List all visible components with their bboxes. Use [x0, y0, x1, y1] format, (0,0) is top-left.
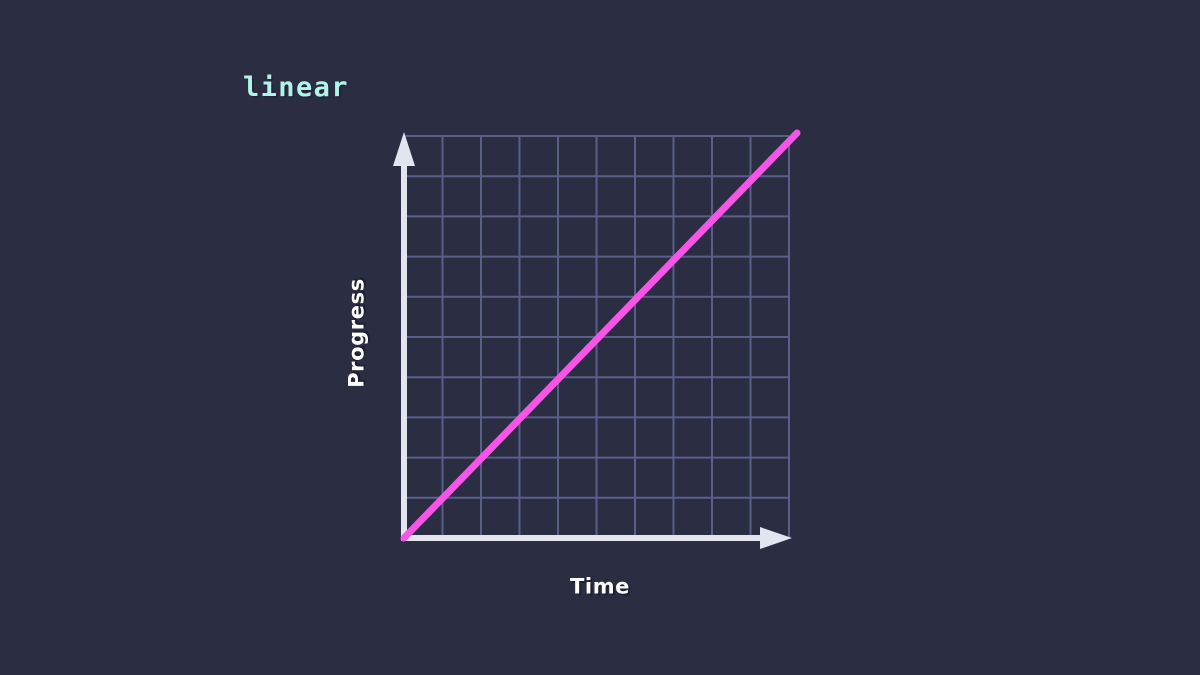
- chart-canvas: linear Progress Time: [0, 0, 1200, 675]
- x-axis-arrow-icon: [760, 527, 792, 549]
- y-axis: [393, 132, 415, 538]
- y-axis-arrow-icon: [393, 132, 415, 166]
- chart-title: linear: [243, 74, 349, 101]
- x-axis-label: Time: [570, 577, 630, 598]
- y-axis-label: Progress: [347, 278, 368, 388]
- data-series-linear: [404, 133, 797, 538]
